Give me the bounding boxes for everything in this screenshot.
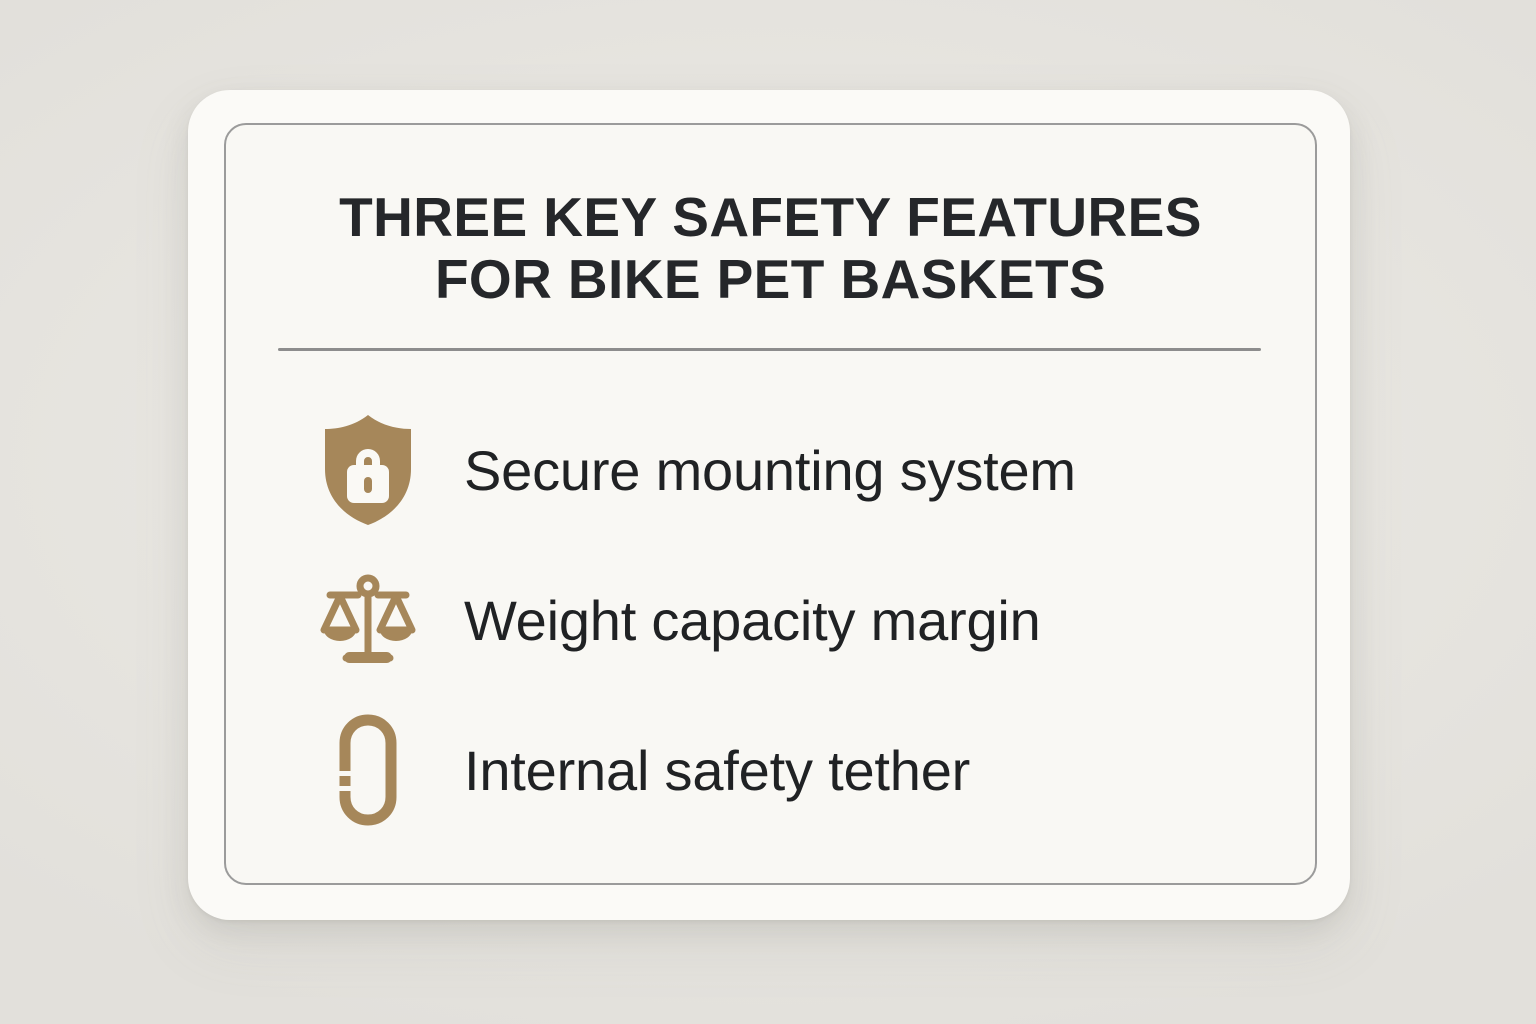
shield-lock-icon [318,411,418,529]
card-content: THREE KEY SAFETY FEATURES FOR BIKE PET B… [226,125,1315,883]
safety-features-card: THREE KEY SAFETY FEATURES FOR BIKE PET B… [188,90,1350,920]
card-inner-frame: THREE KEY SAFETY FEATURES FOR BIKE PET B… [224,123,1317,885]
list-item: Secure mounting system [226,395,1315,545]
list-item-label: Internal safety tether [464,738,970,803]
list-item: Internal safety tether [226,695,1315,845]
feature-list: Secure mounting system [226,395,1315,845]
carabiner-clip-icon [318,711,418,829]
list-item-label: Weight capacity margin [464,588,1041,653]
page-title: THREE KEY SAFETY FEATURES FOR BIKE PET B… [226,187,1315,310]
page-title-line-1: THREE KEY SAFETY FEATURES [226,187,1315,249]
page-title-line-2: FOR BIKE PET BASKETS [226,249,1315,311]
list-item: Weight capacity margin [226,545,1315,695]
title-divider [278,348,1261,351]
balance-scales-icon [318,561,418,679]
list-item-label: Secure mounting system [464,438,1076,503]
